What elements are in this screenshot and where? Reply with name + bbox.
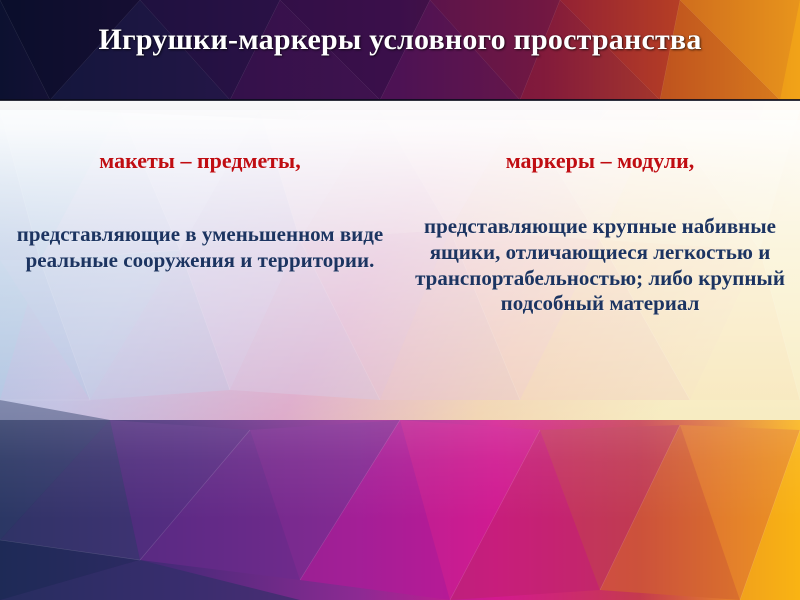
slide-title: Игрушки-маркеры условного пространства <box>80 22 720 57</box>
header-divider-rule <box>0 99 800 101</box>
slide-canvas: Игрушки-маркеры условного пространства м… <box>0 0 800 600</box>
content-columns: макеты – предметы, представляющие в умен… <box>0 126 800 566</box>
column-left-heading: макеты – предметы, <box>14 148 386 174</box>
column-right-heading: маркеры – модули, <box>414 148 786 174</box>
column-left-body: представляющие в уменьшенном виде реальн… <box>14 222 386 273</box>
column-right: маркеры – модули, представляющие крупные… <box>400 126 800 566</box>
column-right-body: представляющие крупные набивные ящики, о… <box>414 214 786 316</box>
column-left: макеты – предметы, представляющие в умен… <box>0 126 400 566</box>
